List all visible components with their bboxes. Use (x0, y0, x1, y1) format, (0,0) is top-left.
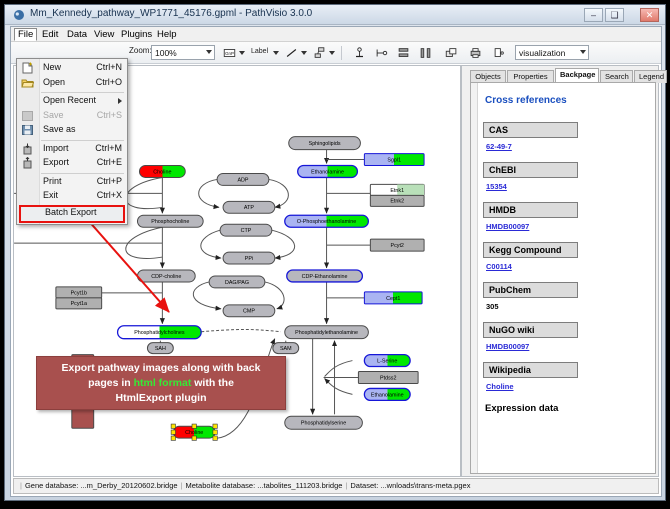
node-label: CMP (243, 309, 255, 315)
xref-value-wikipedia: Choline (486, 382, 649, 391)
menu-item-batch-export-label: Batch Export (45, 207, 97, 217)
node-label: Ethanolamine (311, 169, 344, 175)
anchor-icon[interactable] (351, 45, 368, 61)
node-label: SAM (280, 346, 292, 352)
side-panel-tabs: Objects Properties Backpage Search Legen… (470, 68, 658, 83)
callout-line2-b: with the (191, 377, 234, 389)
xref-row-pubchem: PubChem 305 (483, 280, 649, 311)
menu-edit[interactable]: Edit (38, 28, 62, 41)
copy-icon[interactable] (491, 45, 508, 61)
xref-link-chebi[interactable]: 15354 (486, 182, 507, 191)
menu-file[interactable]: File (14, 28, 37, 41)
menu-data[interactable]: Data (63, 28, 91, 41)
status-separator: | (17, 481, 25, 490)
import-icon (21, 143, 34, 155)
xref-value-cas: 62-49-7 (486, 142, 649, 151)
menu-item-print[interactable]: Print Ctrl+P (17, 175, 127, 190)
menu-item-new-label: New (43, 62, 61, 72)
order-icon[interactable] (443, 45, 460, 61)
menu-item-save-accel: Ctrl+S (97, 110, 122, 120)
xref-row-nugo: NuGO wiki HMDB00097 (483, 320, 649, 351)
annotation-callout: Export pathway images along with back pa… (36, 356, 286, 410)
node-label: O-Phosphoethanolamine (297, 219, 356, 225)
xref-value-chebi: 15354 (486, 182, 649, 191)
menu-item-print-label: Print (43, 176, 62, 186)
chevron-down-icon (301, 51, 307, 55)
menu-item-batch-export[interactable]: Batch Export (19, 205, 125, 223)
node-label: Sphingolipids (309, 141, 341, 147)
label-dropdown-arrow[interactable] (272, 45, 280, 61)
node-label: Etnk2 (390, 199, 404, 205)
menu-item-export-label: Export (43, 157, 69, 167)
maximize-button[interactable]: ❑ (605, 8, 624, 22)
node-label: Phosphatidylserine (301, 421, 346, 427)
xref-link-kegg[interactable]: C00114 (486, 262, 512, 271)
zoom-label: Zoom: (129, 46, 152, 64)
node-label: Etnk1 (390, 188, 404, 194)
menu-help[interactable]: Help (153, 28, 181, 41)
xref-head-kegg: Kegg Compound (483, 242, 578, 258)
pathway-metabolite-node[interactable]: CDP-Ethanolamine (287, 270, 363, 282)
node-label: Choline (185, 430, 203, 436)
status-dataset: Dataset: ...wnloads\trans-meta.pgex (350, 481, 470, 490)
xref-link-hmdb[interactable]: HMDB00097 (486, 222, 529, 231)
line-dropdown-arrow[interactable] (300, 45, 308, 61)
menu-item-open-label: Open (43, 77, 65, 87)
pathway-metabolite-node[interactable]: ADP (217, 173, 269, 185)
tab-backpage[interactable]: Backpage (555, 68, 599, 83)
label-tool-button[interactable]: Label (251, 48, 268, 66)
menu-item-open-recent[interactable]: Open Recent (17, 94, 127, 109)
menu-item-exit-accel: Ctrl+X (97, 190, 122, 200)
pathway-metabolite-node[interactable]: Phosphatidylserine (285, 416, 363, 429)
xref-link-cas[interactable]: 62-49-7 (486, 142, 512, 151)
pathway-metabolite-node[interactable]: PPi (223, 252, 275, 264)
pathway-gene-node[interactable]: Sgpl1 (364, 154, 424, 166)
zoom-combo[interactable]: 100% (151, 45, 215, 60)
pathway-gene-node[interactable]: Etnk1 (370, 184, 424, 195)
pathway-metabolite-node[interactable]: Phosphatidylethanolamine (285, 326, 369, 339)
status-gene-database: Gene database: ...m_Derby_20120602.bridg… (25, 481, 178, 490)
datanode-dropdown-arrow[interactable] (238, 45, 246, 61)
interaction-icon[interactable] (373, 45, 390, 61)
svg-text:GnP: GnP (225, 51, 234, 56)
menu-item-new[interactable]: New Ctrl+N (17, 61, 127, 76)
save-icon (21, 110, 34, 122)
menu-item-save-as[interactable]: Save as (17, 123, 127, 138)
pathway-metabolite-node[interactable]: O-Phosphoethanolamine (285, 215, 369, 227)
node-label: CDP-choline (151, 274, 181, 280)
menu-item-open-accel: Ctrl+O (96, 77, 122, 87)
distribute-icon[interactable] (417, 45, 434, 61)
pathway-metabolite-node[interactable]: Ethanolamine (364, 388, 410, 400)
xref-head-wikipedia: Wikipedia (483, 362, 578, 378)
menu-bar: File Edit Data View Plugins Help (11, 27, 661, 42)
side-panel: Objects Properties Backpage Search Legen… (461, 65, 659, 477)
selection-handle[interactable] (171, 436, 175, 440)
xref-head-chebi: ChEBI (483, 162, 578, 178)
menu-view[interactable]: View (90, 28, 118, 41)
save-as-icon (21, 124, 34, 136)
node-label: L-Serine (377, 358, 397, 364)
print-icon[interactable] (467, 45, 484, 61)
pathway-metabolite-node[interactable]: Ethanolamine (298, 166, 358, 178)
visualization-combo[interactable]: visualization (515, 45, 589, 60)
selection-handle[interactable] (213, 436, 217, 440)
application-body: File Edit Data View Plugins Help Zoom: 1… (10, 26, 662, 497)
chevron-down-icon (273, 51, 279, 55)
selection-handle[interactable] (213, 430, 217, 434)
pathway-metabolite-node[interactable]: Phosphatidylcholines (118, 326, 202, 339)
visualization-value: visualization (519, 48, 565, 58)
pathway-gene-node[interactable]: Etnk2 (370, 195, 424, 206)
menu-item-import-accel: Ctrl+M (95, 143, 122, 153)
menu-item-import-label: Import (43, 143, 69, 153)
callout-line-1: Export pathway images along with back (37, 361, 285, 376)
xref-row-chebi: ChEBI 15354 (483, 160, 649, 191)
pathvisio-icon (13, 9, 25, 21)
selection-handle[interactable] (213, 424, 217, 428)
chevron-down-icon (239, 51, 245, 55)
pathway-gene-node[interactable]: Cept1 (364, 292, 422, 304)
xref-head-hmdb: HMDB (483, 202, 578, 218)
selection-handle[interactable] (192, 436, 196, 440)
node-label: Phosphatidylethanolamine (295, 330, 358, 336)
menu-plugins[interactable]: Plugins (117, 28, 156, 41)
shape-tool-button[interactable] (311, 45, 328, 61)
pathway-metabolite-node[interactable]: CTP (220, 224, 272, 236)
pathway-metabolite-node[interactable]: CMP (223, 305, 275, 317)
pathway-gene-node[interactable]: Pcyt1b (56, 287, 102, 298)
node-label: Ptdss2 (380, 375, 396, 381)
node-label: CDP-Ethanolamine (302, 274, 348, 280)
xref-head-cas: CAS (483, 122, 578, 138)
cross-references-panel: Cross references CAS 62-49-7 ChEBI 15354… (479, 83, 653, 473)
node-label: ATP (244, 205, 254, 211)
node-label: Pcyt2 (391, 243, 404, 249)
side-scrollbar[interactable] (471, 83, 478, 473)
node-label: Sgpl1 (387, 157, 401, 163)
chevron-right-icon (118, 98, 122, 104)
xref-link-wikipedia[interactable]: Choline (486, 382, 514, 391)
line-tool-button[interactable] (283, 45, 300, 61)
menu-item-export-accel: Ctrl+E (97, 157, 122, 167)
pathway-metabolite-node[interactable]: CDP-choline (137, 270, 195, 282)
pathway-metabolite-node[interactable]: Choline (139, 166, 185, 178)
node-label: CTP (241, 228, 252, 234)
menu-item-import[interactable]: Import Ctrl+M (17, 142, 127, 157)
menu-item-save-label: Save (43, 110, 64, 120)
xref-value-nugo: HMDB00097 (486, 342, 649, 351)
pathway-metabolite-node[interactable]: Choline (171, 424, 217, 440)
pathway-gene-node[interactable]: Pcyt1a (56, 298, 102, 309)
menu-item-export[interactable]: Export Ctrl+E (17, 156, 127, 171)
toolbar-separator (341, 46, 342, 60)
menu-item-open-recent-label: Open Recent (43, 95, 96, 105)
window-title: Mm_Kennedy_pathway_WP1771_45176.gpml - P… (30, 8, 312, 19)
xref-value-pubchem: 305 (486, 302, 649, 311)
node-label: SAH (155, 346, 166, 352)
xref-row-kegg: Kegg Compound C00114 (483, 240, 649, 271)
pathway-metabolite-node[interactable]: L-Serine (364, 355, 410, 367)
pathway-metabolite-node[interactable]: DAG/PAG (209, 276, 265, 288)
node-label: ADP (237, 177, 248, 183)
xref-value-kegg: C00114 (486, 262, 649, 271)
menu-item-exit[interactable]: Exit Ctrl+X (17, 189, 127, 204)
menu-item-exit-label: Exit (43, 190, 58, 200)
node-label: Choline (153, 169, 171, 175)
new-file-icon (21, 62, 34, 74)
zoom-value: 100% (155, 48, 177, 58)
export-icon (21, 157, 34, 169)
cross-references-title: Cross references (485, 95, 649, 106)
menu-item-print-accel: Ctrl+P (97, 176, 122, 186)
status-metabolite-database: Metabolite database: ...tabolites_111203… (186, 481, 343, 490)
pathway-metabolite-node[interactable]: Phosphocholine (137, 215, 203, 227)
callout-line2-a: pages in (88, 377, 134, 389)
file-menu-dropdown[interactable]: New Ctrl+N Open Ctrl+O Open Recent Save … (16, 58, 128, 225)
callout-line-2: pages in html format with the (37, 376, 285, 391)
status-bar: |Gene database: ...m_Derby_20120602.brid… (13, 478, 659, 494)
backpage-content-area: Cross references CAS 62-49-7 ChEBI 15354… (470, 83, 656, 474)
node-label: Phosphocholine (151, 219, 189, 225)
xref-link-nugo[interactable]: HMDB00097 (486, 342, 529, 351)
title-bar: Mm_Kennedy_pathway_WP1771_45176.gpml - P… (5, 5, 665, 25)
node-label: Pcyt1a (71, 301, 87, 307)
minimize-button[interactable]: – (584, 8, 603, 22)
xref-head-nugo: NuGO wiki (483, 322, 578, 338)
xref-row-wikipedia: Wikipedia Choline (483, 360, 649, 391)
node-label: Phosphatidylcholines (134, 330, 185, 336)
selection-handle[interactable] (171, 424, 175, 428)
node-label: PPi (245, 256, 253, 262)
menu-item-save[interactable]: Save Ctrl+S (17, 109, 127, 124)
pathway-metabolite-node[interactable]: SAH (147, 343, 173, 354)
xref-value-hmdb: HMDB00097 (486, 222, 649, 231)
shape-dropdown-arrow[interactable] (328, 45, 336, 61)
pathway-metabolite-node[interactable]: Sphingolipids (289, 137, 361, 150)
expression-data-heading: Expression data (485, 403, 649, 414)
selection-handle[interactable] (192, 424, 196, 428)
pathway-metabolite-node[interactable]: ATP (223, 201, 275, 213)
node-label: DAG/PAG (225, 280, 249, 286)
node-label: Pcyt1b (71, 290, 87, 296)
chevron-down-icon (580, 50, 586, 54)
menu-item-save-as-label: Save as (43, 124, 76, 134)
folder-open-icon (21, 77, 34, 89)
pathway-gene-node[interactable]: Ptdss2 (358, 372, 418, 384)
xref-row-hmdb: HMDB HMDB00097 (483, 200, 649, 231)
menu-item-new-accel: Ctrl+N (96, 62, 122, 72)
xref-row-cas: CAS 62-49-7 (483, 120, 649, 151)
chevron-down-icon (206, 50, 212, 54)
callout-line-3: HtmlExport plugin (37, 391, 285, 406)
datanode-tool-button[interactable]: GnP (221, 45, 238, 61)
pathway-metabolite-node[interactable]: SAM (273, 343, 299, 354)
chevron-down-icon (329, 51, 335, 55)
pathway-gene-node[interactable]: Pcyt2 (370, 239, 424, 251)
close-button[interactable]: ✕ (640, 8, 659, 22)
callout-highlight: html format (134, 377, 192, 389)
node-label: Ethanolamine (371, 392, 404, 398)
status-separator: | (178, 481, 186, 490)
selection-handle[interactable] (171, 430, 175, 434)
menu-item-open[interactable]: Open Ctrl+O (17, 76, 127, 91)
align-icon[interactable] (395, 45, 412, 61)
application-window: Mm_Kennedy_pathway_WP1771_45176.gpml - P… (4, 4, 666, 501)
node-label: Cept1 (386, 296, 400, 302)
xref-head-pubchem: PubChem (483, 282, 578, 298)
